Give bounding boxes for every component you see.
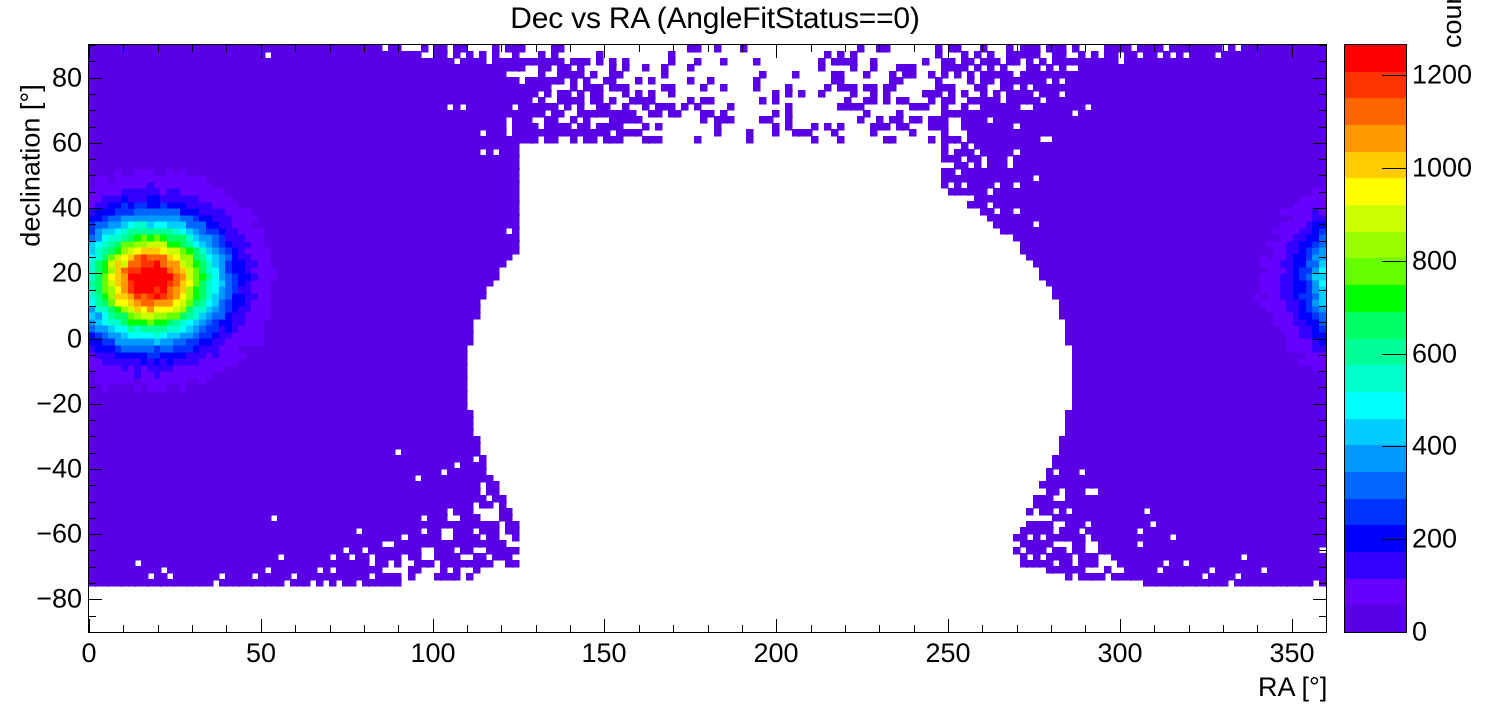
x-axis-tick: [158, 44, 159, 52]
y-axis-tick: [1319, 502, 1327, 503]
y-axis-tick-label: 20: [52, 260, 82, 287]
y-axis-title: declination [°]: [16, 76, 47, 256]
x-axis-tick: [982, 625, 983, 633]
x-axis-tick: [1017, 44, 1018, 52]
x-axis-tick: [879, 625, 880, 633]
y-axis-tick: [88, 94, 96, 95]
x-axis-tick: [845, 44, 846, 52]
x-axis-tick: [1154, 625, 1155, 633]
y-axis-tick: [1319, 257, 1327, 258]
x-axis-tick-label: 100: [410, 640, 455, 667]
x-axis-tick-label: 200: [753, 640, 798, 667]
x-axis-tick: [673, 625, 674, 633]
x-axis-tick: [1085, 44, 1086, 52]
x-axis-tick: [501, 625, 502, 633]
x-axis-tick: [708, 625, 709, 633]
x-axis-tick-label: 0: [81, 640, 96, 667]
x-axis-tick: [330, 44, 331, 52]
y-axis-tick: [1319, 45, 1327, 46]
color-scale-tick-label: 400: [1412, 431, 1457, 462]
y-axis-tick-label: −80: [36, 586, 82, 613]
color-scale-tick-label: 0: [1412, 617, 1427, 648]
page-title: Dec vs RA (AngleFitStatus==0): [0, 2, 1430, 36]
y-axis-tick: [88, 567, 96, 568]
y-axis-tick: [1319, 306, 1327, 307]
y-axis-tick: [88, 632, 96, 633]
x-axis-tick: [1257, 625, 1258, 633]
color-scale-tick-label: 1000: [1412, 153, 1472, 184]
y-axis-tick: [88, 453, 96, 454]
x-axis-tick: [570, 625, 571, 633]
y-axis-tick-label: 40: [52, 195, 82, 222]
y-axis-tick-label: 0: [67, 326, 82, 353]
x-axis-tick: [1051, 44, 1052, 52]
y-axis-tick: [88, 175, 96, 176]
y-axis-tick-label: 80: [52, 65, 82, 92]
y-axis-tick: [88, 61, 96, 62]
y-axis-tick: [88, 583, 96, 584]
color-scale-tick: [1382, 446, 1407, 447]
x-axis-tick: [192, 625, 193, 633]
x-axis-tick: [398, 44, 399, 52]
x-axis-tick: [982, 44, 983, 52]
x-axis-tick: [295, 44, 296, 52]
x-axis-tick: [433, 44, 434, 58]
x-axis-tick-label: 350: [1269, 640, 1314, 667]
y-axis-tick: [88, 290, 96, 291]
y-axis-tick: [1319, 436, 1327, 437]
x-axis-tick: [1189, 625, 1190, 633]
y-axis-tick: [88, 469, 102, 470]
x-axis-tick: [226, 625, 227, 633]
x-axis-tick: [811, 44, 812, 52]
x-axis-tick: [708, 44, 709, 52]
x-axis-tick: [639, 625, 640, 633]
y-axis-tick: [88, 518, 96, 519]
color-scale-tick-label: 1200: [1412, 60, 1472, 91]
y-axis-tick: [1319, 518, 1327, 519]
y-axis-tick: [1313, 208, 1327, 209]
y-axis-tick: [88, 127, 96, 128]
x-axis-tick: [1189, 44, 1190, 52]
x-axis-tick: [467, 44, 468, 52]
y-axis-tick: [88, 257, 96, 258]
y-axis-tick: [1319, 583, 1327, 584]
y-axis-tick: [1319, 420, 1327, 421]
x-axis-tick: [776, 619, 777, 633]
x-axis-tick: [433, 619, 434, 633]
x-axis-tick: [536, 44, 537, 52]
x-axis-tick: [89, 619, 90, 633]
x-axis-tick: [1085, 625, 1086, 633]
x-axis-tick: [948, 619, 949, 633]
y-axis-tick: [1313, 534, 1327, 535]
y-axis-tick: [88, 387, 96, 388]
y-axis-tick: [88, 599, 102, 600]
y-axis-tick: [1319, 61, 1327, 62]
color-scale-tick-label: 200: [1412, 524, 1457, 555]
y-axis-tick: [88, 420, 96, 421]
x-axis-tick: [330, 625, 331, 633]
x-axis-tick: [158, 625, 159, 633]
x-axis-tick: [1223, 625, 1224, 633]
x-axis-tick: [1051, 625, 1052, 633]
y-axis-tick: [1319, 485, 1327, 486]
x-axis-tick: [261, 44, 262, 58]
plot-frame: [88, 44, 1327, 633]
y-axis-tick: [1313, 599, 1327, 600]
y-axis-tick: [88, 485, 96, 486]
y-axis-tick: [88, 355, 96, 356]
x-axis-title: RA [°]: [1258, 672, 1327, 703]
y-axis-tick: [1313, 273, 1327, 274]
color-scale-tick: [1382, 168, 1407, 169]
color-scale-canvas: [1345, 45, 1406, 632]
y-axis-tick: [1313, 404, 1327, 405]
color-scale-tick: [1382, 354, 1407, 355]
y-axis-tick: [88, 550, 96, 551]
histogram-canvas: [89, 45, 1326, 632]
x-axis-tick: [364, 625, 365, 633]
x-axis-tick: [604, 619, 605, 633]
y-axis-tick: [1319, 632, 1327, 633]
y-axis-tick: [88, 534, 102, 535]
color-scale-tick-label: 600: [1412, 339, 1457, 370]
y-axis-tick: [88, 78, 102, 79]
color-scale-tick: [1382, 539, 1407, 540]
y-axis-tick: [1313, 339, 1327, 340]
y-axis-tick: [88, 273, 102, 274]
x-axis-tick: [1017, 625, 1018, 633]
y-axis-tick: [1319, 175, 1327, 176]
y-axis-tick: [1313, 143, 1327, 144]
y-axis-tick: [1319, 290, 1327, 291]
y-axis-tick: [88, 436, 96, 437]
x-axis-tick: [639, 44, 640, 52]
x-axis-tick: [1154, 44, 1155, 52]
x-axis-tick-label: 300: [1097, 640, 1142, 667]
y-axis-tick: [88, 110, 96, 111]
x-axis-tick: [295, 625, 296, 633]
y-axis-tick: [88, 306, 96, 307]
root-canvas: Dec vs RA (AngleFitStatus==0) 0501001502…: [0, 0, 1496, 722]
y-axis-tick: [1319, 616, 1327, 617]
x-axis-tick: [226, 44, 227, 52]
y-axis-tick: [1319, 453, 1327, 454]
x-axis-tick: [845, 625, 846, 633]
x-axis-tick: [123, 44, 124, 52]
x-axis-tick: [261, 619, 262, 633]
x-axis-tick: [879, 44, 880, 52]
x-axis-tick: [536, 625, 537, 633]
y-axis-tick: [1319, 241, 1327, 242]
y-axis-tick: [1319, 110, 1327, 111]
y-axis-tick: [88, 159, 96, 160]
y-axis-tick: [1319, 94, 1327, 95]
x-axis-tick: [467, 625, 468, 633]
y-axis-tick: [1319, 159, 1327, 160]
x-axis-tick: [914, 625, 915, 633]
color-scale-tick: [1382, 632, 1407, 633]
y-axis-tick: [1319, 355, 1327, 356]
x-axis-tick: [776, 44, 777, 58]
x-axis-tick: [192, 44, 193, 52]
x-axis-tick: [811, 625, 812, 633]
color-scale-bar: [1344, 44, 1407, 633]
x-axis-tick: [123, 625, 124, 633]
y-axis-tick: [88, 616, 96, 617]
y-axis-tick: [1319, 192, 1327, 193]
color-scale-title: count: [1437, 0, 1468, 48]
y-axis-tick: [1313, 469, 1327, 470]
y-axis-tick: [1319, 371, 1327, 372]
x-axis-tick: [1292, 619, 1293, 633]
x-axis-tick: [1223, 44, 1224, 52]
y-axis-tick: [1319, 127, 1327, 128]
color-scale-tick: [1382, 75, 1407, 76]
x-axis-tick: [1257, 44, 1258, 52]
x-axis-tick: [1120, 619, 1121, 633]
y-axis-tick: [88, 502, 96, 503]
y-axis-tick: [88, 339, 102, 340]
y-axis-tick: [88, 322, 96, 323]
y-axis-tick-label: 60: [52, 130, 82, 157]
y-axis-tick: [88, 224, 96, 225]
y-axis-tick: [1319, 224, 1327, 225]
x-axis-tick-label: 150: [581, 640, 626, 667]
y-axis-tick: [88, 404, 102, 405]
color-scale-tick-label: 800: [1412, 246, 1457, 277]
y-axis-tick-label: −20: [36, 391, 82, 418]
y-axis-tick-label: −40: [36, 456, 82, 483]
x-axis-tick: [570, 44, 571, 52]
x-axis-tick-label: 250: [925, 640, 970, 667]
y-axis-tick: [88, 241, 96, 242]
y-axis-tick: [88, 45, 96, 46]
y-axis-tick: [1313, 78, 1327, 79]
color-scale-tick: [1382, 261, 1407, 262]
y-axis-tick: [1319, 567, 1327, 568]
x-axis-tick: [673, 44, 674, 52]
x-axis-tick: [742, 44, 743, 52]
x-axis-tick-label: 50: [246, 640, 276, 667]
x-axis-tick: [604, 44, 605, 58]
x-axis-tick: [1120, 44, 1121, 58]
y-axis-tick: [1319, 550, 1327, 551]
y-axis-tick: [88, 192, 96, 193]
y-axis-tick: [88, 143, 102, 144]
x-axis-tick: [501, 44, 502, 52]
y-axis-tick: [88, 371, 96, 372]
y-axis-tick: [1319, 387, 1327, 388]
x-axis-tick: [364, 44, 365, 52]
x-axis-tick: [1292, 44, 1293, 58]
x-axis-tick: [398, 625, 399, 633]
y-axis-tick: [88, 208, 102, 209]
y-axis-tick-label: −60: [36, 521, 82, 548]
x-axis-tick: [89, 44, 90, 58]
x-axis-tick: [948, 44, 949, 58]
x-axis-tick: [742, 625, 743, 633]
y-axis-tick: [1319, 322, 1327, 323]
x-axis-tick: [914, 44, 915, 52]
